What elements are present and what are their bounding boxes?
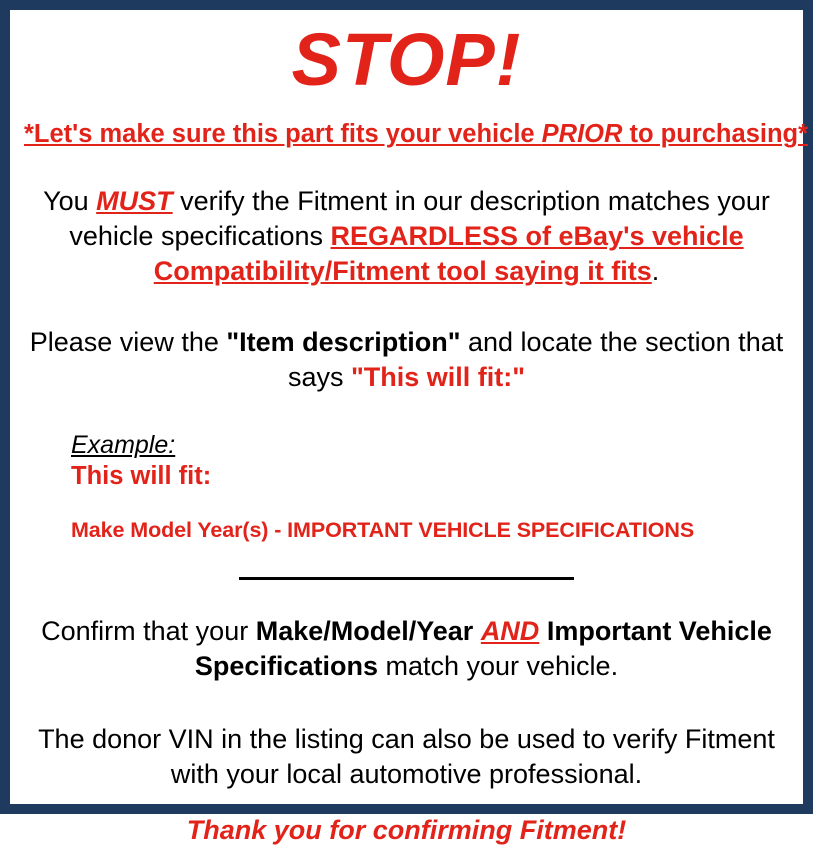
text-segment: "Item description" (226, 327, 460, 357)
example-block: Example: This will fit: Make Model Year(… (24, 431, 789, 544)
text-segment: to purchasing* (622, 120, 808, 148)
text-segment: Please view the (30, 327, 227, 357)
text-segment: The donor VIN in the listing can also be… (38, 724, 775, 789)
stop-title: STOP! (24, 22, 789, 97)
fitment-notice-frame: STOP! *Let's make sure this part fits yo… (0, 0, 813, 814)
paragraph-confirm-make-model-year: Confirm that your Make/Model/Year AND Im… (24, 614, 789, 684)
text-segment: . (652, 256, 660, 286)
text-segment: MUST (96, 186, 173, 216)
paragraph-view-item-description: Please view the "Item description" and l… (24, 325, 789, 395)
divider-line (239, 577, 574, 580)
closing-thank-you-line: Thank you for confirming Fitment! (24, 814, 789, 846)
paragraph-donor-vin: The donor VIN in the listing can also be… (24, 722, 789, 792)
example-label: Example: (71, 431, 789, 460)
text-segment: AND (481, 616, 540, 646)
paragraph-must-verify-fitment: You MUST verify the Fitment in our descr… (24, 184, 789, 289)
text-segment: Make/Model/Year (256, 616, 481, 646)
divider (24, 570, 789, 584)
subtitle-verify-fitment: *Let's make sure this part fits your veh… (24, 119, 789, 150)
example-specification-line: Make Model Year(s) - IMPORTANT VEHICLE S… (71, 518, 789, 544)
text-segment: PRIOR (542, 120, 623, 148)
text-segment: match your vehicle. (378, 651, 618, 681)
fitment-notice-body: STOP! *Let's make sure this part fits yo… (10, 10, 803, 804)
text-segment: Confirm that your (41, 616, 256, 646)
text-segment: "This will fit:" (351, 362, 525, 392)
text-segment: *Let's make sure this part fits your veh… (24, 120, 542, 148)
example-this-will-fit-heading: This will fit: (71, 461, 789, 492)
text-segment: You (43, 186, 96, 216)
